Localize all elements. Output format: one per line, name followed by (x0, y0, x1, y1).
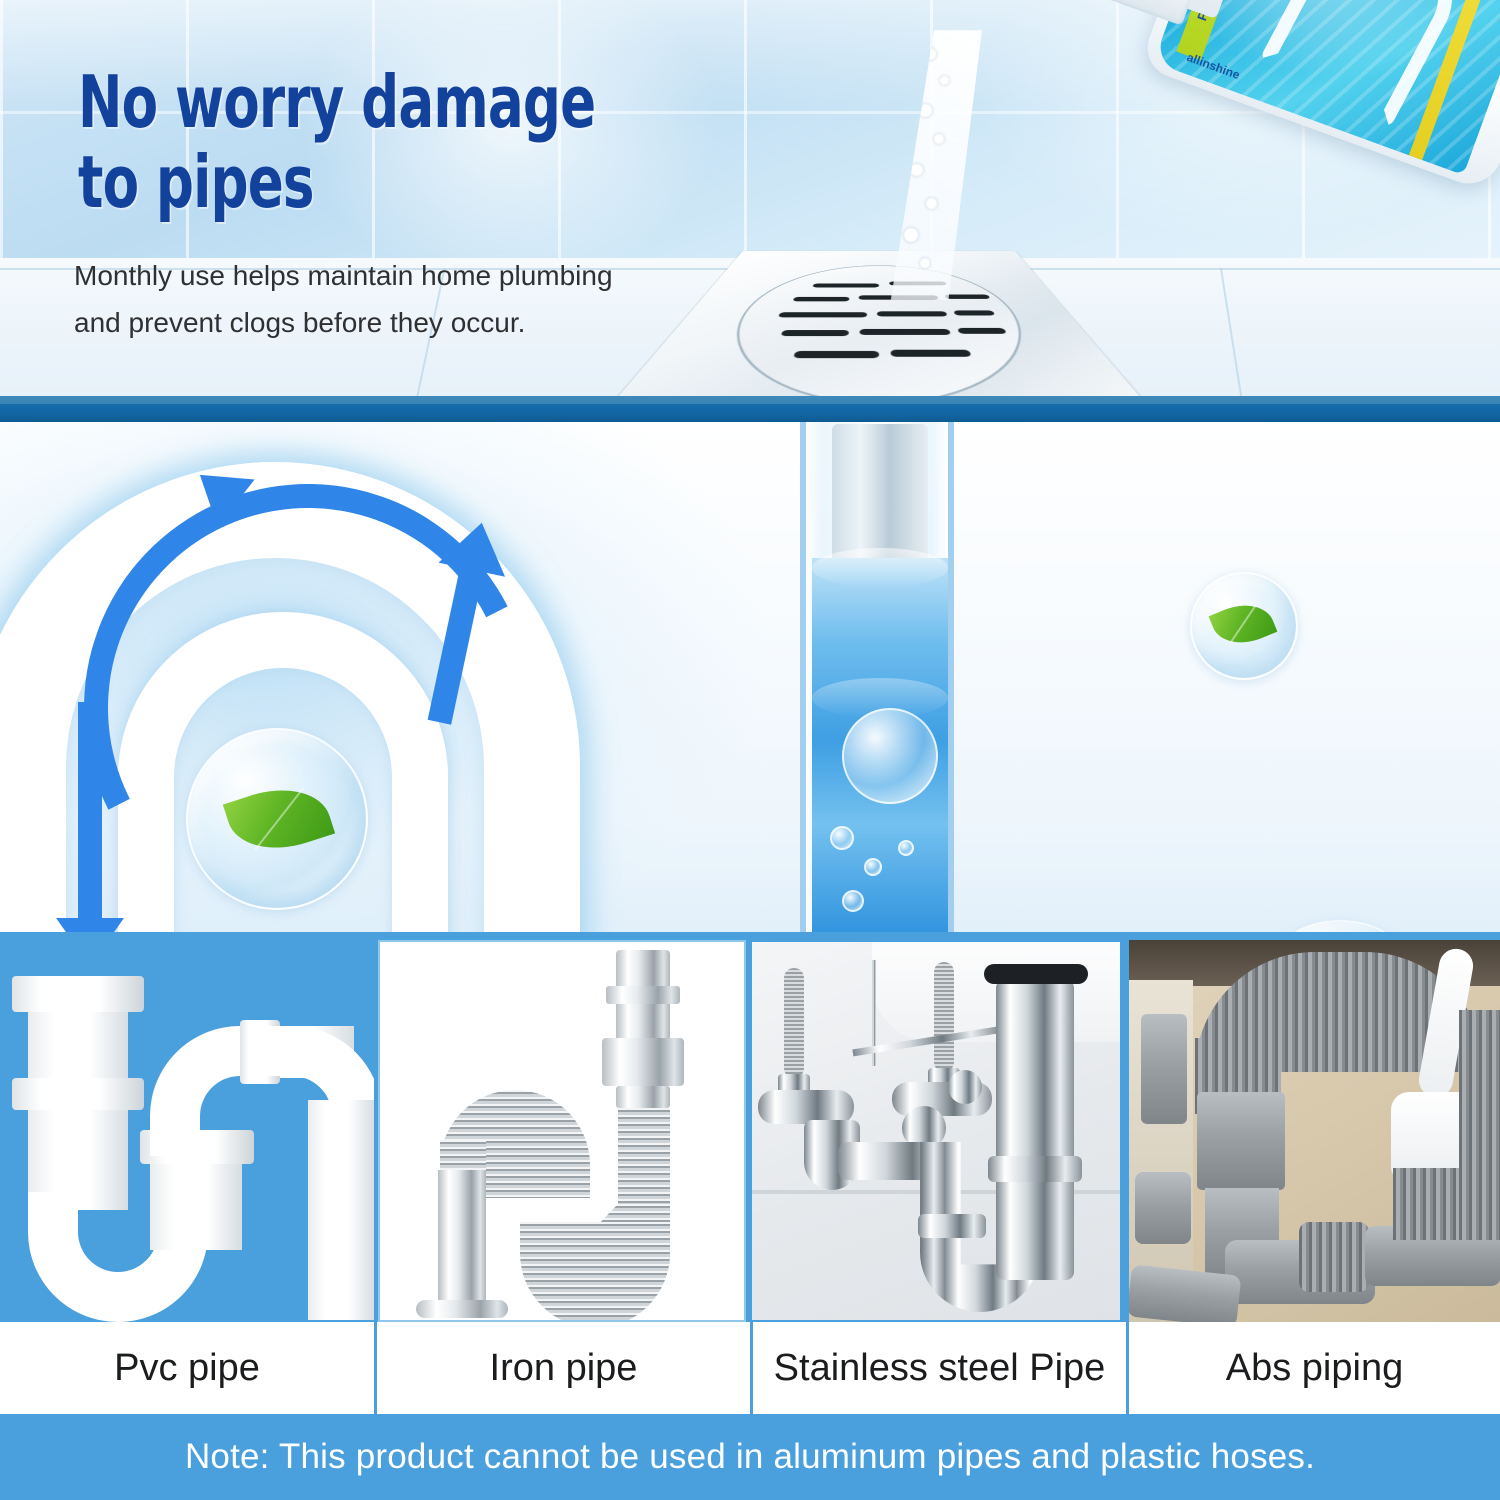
iron-hose-illustration (380, 942, 744, 1320)
pipe-cutaway-diagram (0, 422, 1500, 932)
drain-circle (689, 265, 1070, 396)
caption-stainless-steel-pipe: Stainless steel Pipe (750, 1322, 1126, 1414)
stainless-pipe-photo (752, 942, 1120, 1320)
panel-pvc-pipe[interactable] (0, 940, 374, 1322)
cleaning-bubble (1278, 920, 1402, 932)
hero-subtitle: Monthly use helps maintain home plumbing… (74, 252, 613, 346)
cleaning-bubble (1190, 572, 1298, 680)
section-divider-band (0, 396, 1500, 422)
infographic-page: No worry damage to pipes Monthly use hel… (0, 0, 1500, 1500)
caption-iron-pipe: Iron pipe (374, 1322, 750, 1414)
page-title: No worry damage to pipes (78, 62, 595, 222)
flowing-water (812, 558, 948, 932)
cleaning-bubble (186, 728, 368, 910)
pvc-pipe-illustration (0, 940, 374, 1322)
caption-pvc-pipe: Pvc pipe (0, 1322, 374, 1414)
panel-iron-pipe[interactable] (378, 940, 746, 1322)
hero-section: No worry damage to pipes Monthly use hel… (0, 0, 1500, 396)
vertical-drain-pipe (800, 422, 954, 932)
panel-captions: Pvc pipe Iron pipe Stainless steel Pipe … (0, 1322, 1500, 1414)
caption-abs-piping: Abs piping (1126, 1322, 1500, 1414)
flow-arrow-down (78, 702, 102, 922)
abs-piping-photo (1129, 940, 1500, 1322)
leaf-icon (223, 774, 335, 863)
panel-abs-piping[interactable] (1126, 940, 1500, 1322)
band-gloss (0, 396, 1500, 404)
note-bar: Note: This product cannot be used in alu… (0, 1414, 1500, 1500)
panel-stainless-steel-pipe[interactable] (750, 940, 1122, 1322)
floor-drain-grate (669, 296, 1089, 337)
leaf-icon (1209, 595, 1278, 654)
compatible-pipes-panels (0, 932, 1500, 1322)
